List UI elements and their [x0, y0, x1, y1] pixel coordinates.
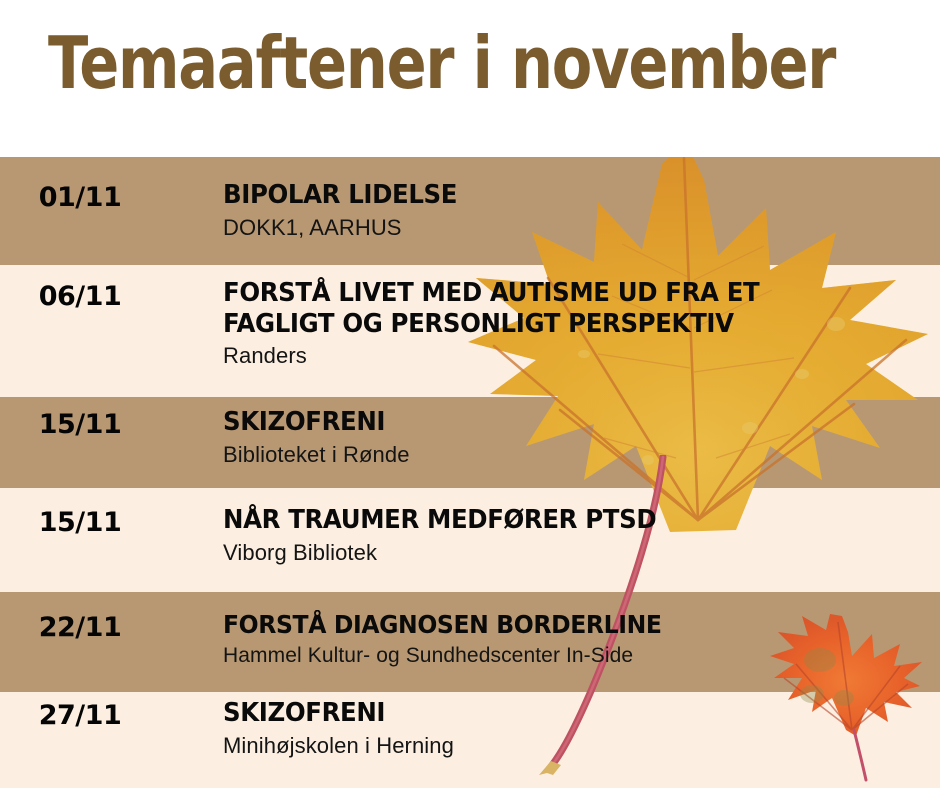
event-row[interactable]: 27/11 SKIZOFRENI Minihøjskolen i Herning	[0, 698, 940, 759]
event-date: 22/11	[0, 610, 160, 643]
event-body: BIPOLAR LIDELSE DOKK1, AARHUS	[160, 180, 940, 241]
event-date: 15/11	[0, 407, 160, 440]
event-title-line1: SKIZOFRENI	[223, 407, 385, 437]
event-title: FORSTÅ DIAGNOSEN BORDERLINE	[223, 610, 897, 640]
event-body: SKIZOFRENI Biblioteket i Rønde	[160, 407, 940, 468]
page-title: Temaaftener i november	[48, 26, 835, 102]
event-title-line2: FAGLIGT OG PERSONLIGT PERSPEKTIV	[223, 309, 897, 340]
event-row[interactable]: 06/11 FORSTÅ LIVET MED AUTISME UD FRA ET…	[0, 278, 940, 369]
event-venue: Randers	[223, 343, 940, 369]
event-venue: DOKK1, AARHUS	[223, 215, 940, 241]
event-date: 15/11	[0, 505, 160, 538]
poster-header: Temaaftener i november	[0, 0, 940, 157]
event-title: SKIZOFRENI	[223, 698, 897, 729]
event-row[interactable]: 15/11 NÅR TRAUMER MEDFØRER PTSD Viborg B…	[0, 505, 940, 566]
event-venue: Biblioteket i Rønde	[223, 442, 940, 468]
event-title-line1: BIPOLAR LIDELSE	[223, 180, 457, 210]
event-row[interactable]: 22/11 FORSTÅ DIAGNOSEN BORDERLINE Hammel…	[0, 610, 940, 668]
event-date: 01/11	[0, 180, 160, 213]
event-body: SKIZOFRENI Minihøjskolen i Herning	[160, 698, 940, 759]
event-title: FORSTÅ LIVET MED AUTISME UD FRA ET FAGLI…	[223, 278, 897, 339]
poster-canvas: Temaaftener i november 01/11 BIPOLAR LID…	[0, 0, 940, 788]
event-title-line1: SKIZOFRENI	[223, 698, 385, 728]
event-venue: Viborg Bibliotek	[223, 540, 940, 566]
event-date: 27/11	[0, 698, 160, 731]
event-row[interactable]: 01/11 BIPOLAR LIDELSE DOKK1, AARHUS	[0, 180, 940, 241]
event-title-line1: FORSTÅ LIVET MED AUTISME UD FRA ET	[223, 278, 759, 308]
event-title: BIPOLAR LIDELSE	[223, 180, 897, 211]
event-title: SKIZOFRENI	[223, 407, 897, 438]
event-row[interactable]: 15/11 SKIZOFRENI Biblioteket i Rønde	[0, 407, 940, 468]
event-title-line1: NÅR TRAUMER MEDFØRER PTSD	[223, 505, 656, 535]
event-body: FORSTÅ DIAGNOSEN BORDERLINE Hammel Kultu…	[160, 610, 940, 668]
event-title-line1: FORSTÅ DIAGNOSEN BORDERLINE	[223, 610, 662, 639]
event-body: NÅR TRAUMER MEDFØRER PTSD Viborg Bibliot…	[160, 505, 940, 566]
event-venue: Hammel Kultur- og Sundhedscenter In-Side	[223, 644, 940, 668]
event-venue: Minihøjskolen i Herning	[223, 733, 940, 759]
event-title: NÅR TRAUMER MEDFØRER PTSD	[223, 505, 897, 536]
event-body: FORSTÅ LIVET MED AUTISME UD FRA ET FAGLI…	[160, 278, 940, 369]
event-date: 06/11	[0, 278, 160, 312]
